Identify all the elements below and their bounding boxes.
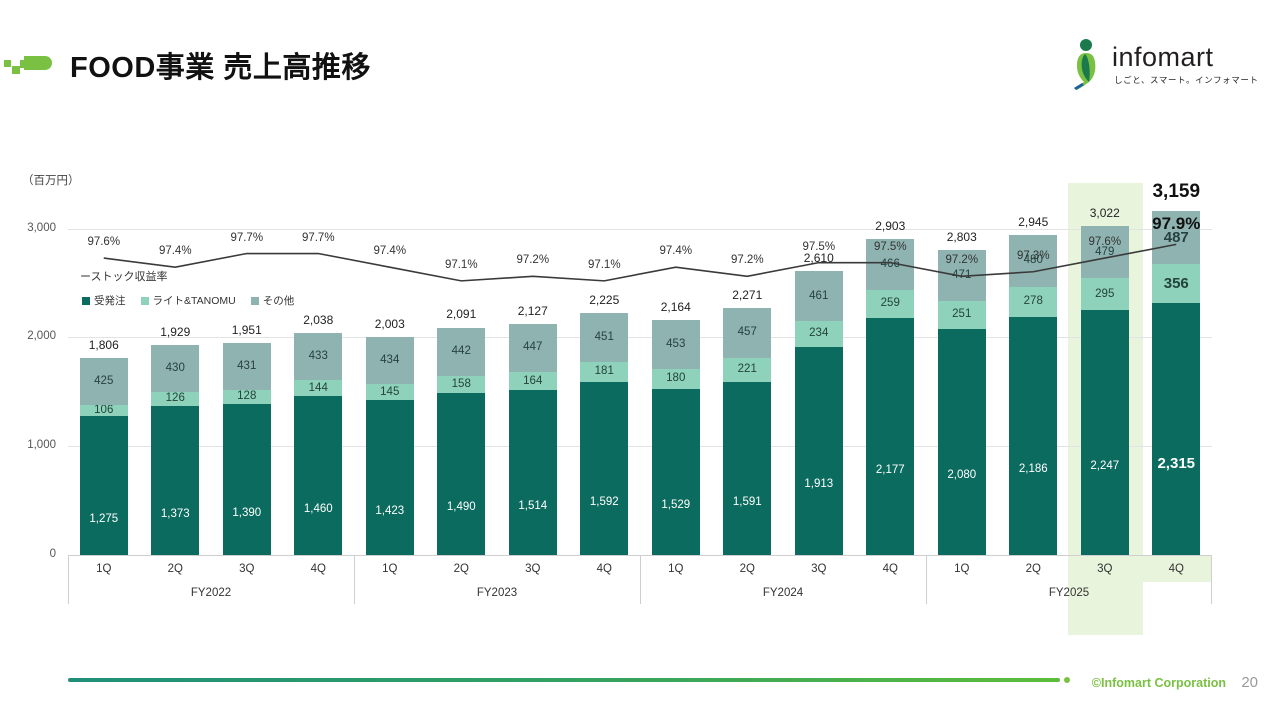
copyright-text: ©Infomart Corporation: [1092, 676, 1226, 690]
bar-segment-value: 180: [666, 373, 685, 385]
bar-column[interactable]: 4251061,275: [68, 358, 140, 555]
bar-segment-value: 1,529: [661, 500, 690, 512]
bar-segment-juhatchu[interactable]: 1,460: [294, 396, 342, 555]
bar-segment-light-tanomu[interactable]: 106: [80, 405, 128, 417]
bar-segment-value: 1,490: [447, 502, 476, 514]
bar-segment-light-tanomu[interactable]: 158: [437, 376, 485, 393]
x-axis-quarter-label[interactable]: 1Q: [354, 556, 426, 582]
bar-segment-other[interactable]: 451: [580, 313, 628, 362]
bar-segment-value: 433: [309, 351, 328, 363]
ratio-value-label: 97.4%: [130, 245, 220, 257]
bar-segment-value: 430: [166, 363, 185, 375]
bar-column[interactable]: 4662592,177: [855, 239, 927, 555]
ratio-value-label: 97.3%: [988, 250, 1078, 262]
y-axis-tick-label: 1,000: [0, 439, 56, 451]
stacked-bar[interactable]: 4792952,247: [1081, 226, 1129, 555]
stacked-bar[interactable]: 4421581,490: [437, 327, 485, 555]
bar-segment-juhatchu[interactable]: 1,591: [723, 382, 771, 555]
x-axis-quarter-label[interactable]: 4Q: [1141, 556, 1213, 582]
bar-column[interactable]: 4531801,529: [640, 320, 712, 555]
bar-segment-other[interactable]: 453: [652, 320, 700, 369]
bar-segment-value: 1,514: [518, 501, 547, 513]
ratio-value-label: 97.1%: [559, 259, 649, 271]
bar-segment-light-tanomu[interactable]: 144: [294, 380, 342, 396]
bar-segment-other[interactable]: 431: [223, 343, 271, 390]
bar-segment-light-tanomu[interactable]: 278: [1009, 287, 1057, 317]
bar-total-label: 3,159: [1121, 181, 1231, 203]
bar-column[interactable]: 4511811,592: [569, 313, 641, 555]
stacked-bar[interactable]: 4612341,913: [795, 271, 843, 555]
bar-segment-value: 164: [523, 376, 542, 388]
x-axis-separator: [68, 556, 69, 604]
page-title: FOOD事業 売上高推移: [70, 44, 371, 86]
bar-column[interactable]: 4331441,460: [283, 333, 355, 555]
ratio-value-label: 97.6%: [1060, 236, 1150, 248]
bar-segment-other[interactable]: 479: [1081, 226, 1129, 278]
bar-segment-light-tanomu[interactable]: 128: [223, 390, 271, 404]
bar-segment-other[interactable]: 457: [723, 308, 771, 358]
ratio-value-label: 97.7%: [273, 232, 363, 244]
bar-segment-value: 1,460: [304, 504, 333, 516]
y-axis-tick-label: 2,000: [0, 330, 56, 342]
ratio-value-label: 97.9%: [1131, 214, 1221, 234]
bar-segment-value: 221: [738, 364, 757, 376]
bar-segment-value: 1,275: [89, 514, 118, 526]
bar-segment-value: 434: [380, 355, 399, 367]
bar-segment-juhatchu[interactable]: 1,373: [151, 406, 199, 555]
bar-segment-value: 453: [666, 339, 685, 351]
bar-column[interactable]: 4792952,247: [1069, 226, 1141, 555]
logo-wordmark: infomart: [1112, 42, 1214, 73]
bar-segment-value: 1,390: [232, 508, 261, 520]
slide-header: FOOD事業 売上高推移 infomart しごと、スマート。インフォマート: [0, 0, 1280, 110]
x-axis-quarter-label[interactable]: 2Q: [998, 556, 1070, 582]
bar-segment-other[interactable]: 430: [151, 345, 199, 392]
stacked-bar[interactable]: 4301261,373: [151, 345, 199, 555]
infomart-figure-icon: [1072, 38, 1104, 90]
x-axis-quarter-label[interactable]: 3Q: [497, 556, 569, 582]
stacked-bar[interactable]: 4572211,591: [723, 308, 771, 555]
x-axis-quarter-label[interactable]: 1Q: [926, 556, 998, 582]
infomart-logo: infomart しごと、スマート。インフォマート: [1072, 38, 1222, 90]
bar-column[interactable]: 4572211,591: [712, 308, 784, 555]
y-axis-tick-label: 3,000: [0, 222, 56, 234]
x-axis-quarter-label[interactable]: 2Q: [426, 556, 498, 582]
bar-segment-value: 158: [452, 379, 471, 391]
x-axis-fiscal-year-label[interactable]: FY2025: [926, 582, 1212, 604]
x-axis-quarter-label[interactable]: 1Q: [68, 556, 140, 582]
green-pixel-mark-icon: [4, 48, 56, 78]
x-axis-separator: [354, 556, 355, 604]
bar-segment-other[interactable]: 425: [80, 358, 128, 404]
bar-segment-value: 128: [237, 391, 256, 403]
bar-segment-light-tanomu[interactable]: 259: [866, 290, 914, 318]
bar-segment-value: 2,080: [947, 470, 976, 482]
bar-segment-light-tanomu[interactable]: 221: [723, 358, 771, 382]
ratio-value-label: 97.2%: [702, 254, 792, 266]
bar-segment-light-tanomu[interactable]: 234: [795, 321, 843, 346]
bar-segment-value: 356: [1164, 276, 1189, 291]
bar-segment-juhatchu[interactable]: 1,529: [652, 389, 700, 555]
bar-column[interactable]: 4802782,186: [998, 235, 1070, 555]
x-axis-quarter-label[interactable]: 3Q: [211, 556, 283, 582]
footer-gradient-rule: [68, 678, 1060, 682]
bar-segment-value: 106: [94, 405, 113, 417]
bar-segment-value: 295: [1095, 289, 1114, 301]
x-axis-separator: [1211, 556, 1212, 604]
bar-segment-light-tanomu[interactable]: 126: [151, 392, 199, 406]
bar-segment-light-tanomu[interactable]: 164: [509, 372, 557, 390]
bar-segment-value: 1,913: [804, 479, 833, 491]
x-axis-separator: [926, 556, 927, 604]
x-axis-quarter-label[interactable]: 2Q: [140, 556, 212, 582]
stacked-bar[interactable]: 4341451,423: [366, 337, 414, 555]
bar-segment-value: 471: [952, 270, 971, 282]
bar-segment-value: 234: [809, 328, 828, 340]
bar-segment-light-tanomu[interactable]: 180: [652, 369, 700, 389]
bar-segment-value: 425: [94, 376, 113, 388]
bar-segment-juhatchu[interactable]: 2,177: [866, 318, 914, 555]
bar-segment-light-tanomu[interactable]: 295: [1081, 278, 1129, 310]
bar-segment-juhatchu[interactable]: 2,186: [1009, 317, 1057, 555]
bar-column[interactable]: 4612341,913: [783, 271, 855, 555]
bar-segment-juhatchu[interactable]: 2,080: [938, 329, 986, 555]
bar-segment-value: 278: [1024, 296, 1043, 308]
stacked-bar[interactable]: 4251061,275: [80, 358, 128, 555]
bar-segment-value: 2,247: [1090, 461, 1119, 473]
bar-segment-value: 2,177: [876, 465, 905, 477]
bar-segment-value: 126: [166, 393, 185, 405]
bar-segment-other[interactable]: 447: [509, 324, 557, 373]
stacked-bar[interactable]: 4873562,315: [1152, 211, 1200, 555]
bar-segment-value: 1,591: [733, 497, 762, 509]
bar-column[interactable]: 4873562,315: [1141, 211, 1213, 555]
ratio-value-label: 97.4%: [345, 245, 435, 257]
x-axis-fiscal-year-label[interactable]: FY2023: [354, 582, 640, 604]
x-axis-quarter-label[interactable]: 3Q: [783, 556, 855, 582]
bar-segment-value: 457: [738, 327, 757, 339]
x-axis-fiscal-year-label[interactable]: FY2022: [68, 582, 354, 604]
bar-segment-juhatchu[interactable]: 1,913: [795, 347, 843, 555]
bar-segment-juhatchu[interactable]: 2,315: [1152, 303, 1200, 555]
bar-column[interactable]: 4471641,514: [497, 324, 569, 555]
stacked-bar[interactable]: 4662592,177: [866, 239, 914, 555]
stacked-bar[interactable]: 4712512,080: [938, 250, 986, 555]
bar-column[interactable]: 4311281,390: [211, 343, 283, 555]
y-axis-tick-label: 0: [0, 548, 56, 560]
bar-segment-value: 431: [237, 361, 256, 373]
stacked-bar[interactable]: 4531801,529: [652, 320, 700, 555]
bar-segment-light-tanomu[interactable]: 251: [938, 301, 986, 328]
bar-segment-value: 479: [1095, 247, 1114, 259]
x-axis-quarter-label[interactable]: 4Q: [569, 556, 641, 582]
bar-segment-value: 447: [523, 342, 542, 354]
bar-column[interactable]: 4712512,080: [926, 250, 998, 555]
x-axis: 1Q2Q3Q4Q1Q2Q3Q4Q1Q2Q3Q4Q1Q2Q3Q4QFY2022FY…: [68, 555, 1212, 603]
logo-tagline: しごと、スマート。インフォマート: [1114, 74, 1259, 86]
bar-segment-value: 251: [952, 309, 971, 321]
bar-segment-light-tanomu[interactable]: 181: [580, 362, 628, 382]
bar-segment-value: 461: [809, 291, 828, 303]
bar-segment-juhatchu[interactable]: 1,423: [366, 400, 414, 555]
bar-segment-light-tanomu[interactable]: 145: [366, 384, 414, 400]
page-number: 20: [1241, 674, 1258, 691]
footer-dot-icon: [1064, 677, 1070, 683]
stacked-bar[interactable]: 4331441,460: [294, 333, 342, 555]
x-axis-quarter-label[interactable]: 4Q: [855, 556, 927, 582]
bar-segment-value: 181: [595, 366, 614, 378]
bar-segment-juhatchu[interactable]: 1,514: [509, 390, 557, 555]
slide-footer: ©Infomart Corporation 20: [0, 650, 1280, 720]
bar-segment-light-tanomu[interactable]: 356: [1152, 264, 1200, 303]
bar-column[interactable]: 4421581,490: [426, 327, 498, 555]
x-axis-quarter-label[interactable]: 2Q: [712, 556, 784, 582]
ratio-value-label: 97.5%: [845, 241, 935, 253]
bar-segment-juhatchu[interactable]: 1,390: [223, 404, 271, 555]
x-axis-quarter-label[interactable]: 1Q: [640, 556, 712, 582]
bar-segment-value: 2,315: [1157, 456, 1195, 471]
stacked-bar[interactable]: 4311281,390: [223, 343, 271, 555]
stacked-bar[interactable]: 4471641,514: [509, 324, 557, 555]
bar-segment-value: 451: [595, 332, 614, 344]
bar-segment-juhatchu[interactable]: 2,247: [1081, 310, 1129, 555]
bar-column[interactable]: 4301261,373: [140, 345, 212, 555]
bar-segment-value: 1,423: [375, 506, 404, 518]
bar-segment-other[interactable]: 461: [795, 271, 843, 321]
bar-column[interactable]: 4341451,423: [354, 337, 426, 555]
bar-segment-value: 144: [309, 383, 328, 395]
bar-segment-value: 145: [380, 387, 399, 399]
bar-segment-value: 466: [881, 259, 900, 271]
bar-segment-juhatchu[interactable]: 1,592: [580, 382, 628, 555]
bar-segment-value: 259: [881, 298, 900, 310]
x-axis-separator: [640, 556, 641, 604]
stacked-bar[interactable]: 4802782,186: [1009, 235, 1057, 555]
x-axis-quarter-label[interactable]: 3Q: [1069, 556, 1141, 582]
bar-segment-value: 1,592: [590, 497, 619, 509]
bar-segment-value: 2,186: [1019, 464, 1048, 476]
x-axis-fiscal-year-label[interactable]: FY2024: [640, 582, 926, 604]
bar-segment-juhatchu[interactable]: 1,275: [80, 416, 128, 555]
bar-segment-value: 1,373: [161, 509, 190, 521]
bar-segment-other[interactable]: 433: [294, 333, 342, 380]
bar-segment-other[interactable]: 442: [437, 328, 485, 376]
x-axis-quarter-label[interactable]: 4Q: [283, 556, 355, 582]
bar-segment-juhatchu[interactable]: 1,490: [437, 393, 485, 555]
bar-segment-value: 442: [452, 346, 471, 358]
chart-container: （百万円） 01,0002,0003,000 ーストック収益率 受発注ライト&T…: [0, 150, 1280, 620]
stacked-bar[interactable]: 4511811,592: [580, 313, 628, 555]
bar-segment-other[interactable]: 434: [366, 337, 414, 384]
